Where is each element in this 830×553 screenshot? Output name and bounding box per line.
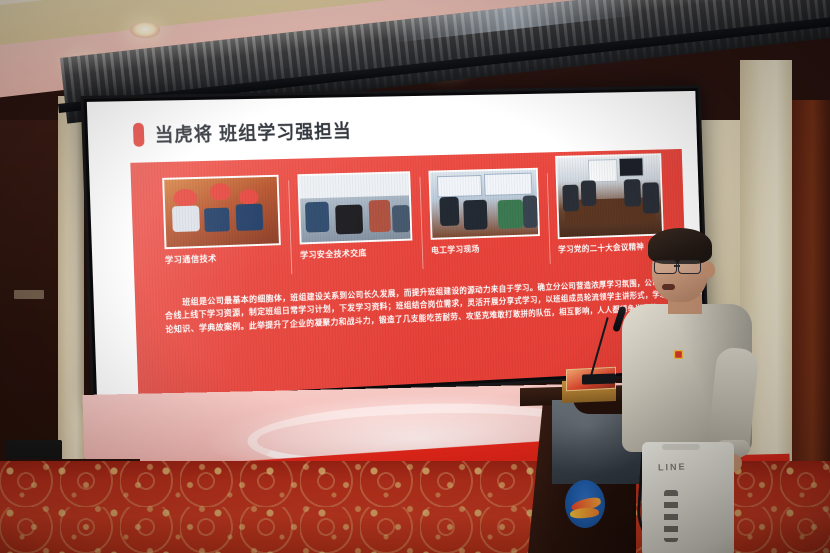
pants-stripe-detail	[664, 490, 678, 542]
presenter-hair	[648, 228, 712, 264]
presenter: LINE	[612, 228, 757, 553]
downlight-1	[130, 22, 160, 38]
presenter-waistband	[662, 444, 700, 450]
conference-presentation-photo: 当虎将 班组学习强担当 学习通信技术	[0, 0, 830, 553]
eyeglasses-bridge	[674, 265, 680, 267]
title-bullet-icon	[133, 122, 145, 146]
eyeglasses-left-lens	[654, 260, 677, 274]
party-badge-pin-icon	[674, 350, 683, 359]
photo-cell-2: 学习安全技术交底	[288, 171, 423, 284]
podium-logo-icon	[565, 480, 605, 528]
photo-cell-3: 电工学习现场	[419, 168, 550, 279]
pants-brand-text: LINE	[658, 462, 687, 473]
photo-thumbnail-2	[297, 171, 412, 244]
photo-caption-2: 学习安全技术交底	[300, 246, 413, 260]
photo-gallery: 学习通信技术 学习安全技术交底	[152, 164, 673, 289]
photo-cell-1: 学习通信技术	[152, 175, 291, 290]
page-title: 当虎将 班组学习强担当	[154, 117, 352, 148]
photo-thumbnail-3	[428, 168, 540, 240]
photo-caption-1: 学习通信技术	[165, 251, 282, 266]
eyeglasses-right-lens	[678, 260, 701, 274]
photo-thumbnail-4	[555, 153, 664, 239]
photo-caption-3: 电工学习现场	[431, 242, 541, 256]
slide-title-row: 当虎将 班组学习强担当	[133, 117, 352, 148]
presenter-pants	[642, 442, 734, 553]
microphone-base	[582, 373, 616, 384]
presenter-ear	[704, 262, 715, 278]
photo-thumbnail-1	[162, 175, 281, 249]
slide-red-panel: 学习通信技术 学习安全技术交底	[130, 149, 688, 398]
presenter-mouth	[662, 284, 675, 290]
